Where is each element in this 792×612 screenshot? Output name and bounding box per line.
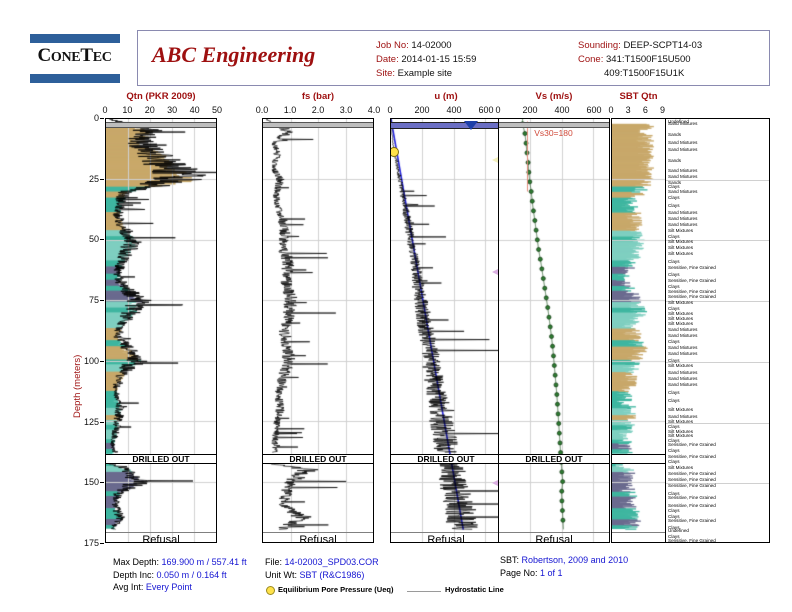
sbt-classification-label: Sand Mixtures (668, 327, 697, 332)
depth-tick (100, 543, 104, 544)
sbt-classification-label: Sensitive, Fine Grained (668, 495, 716, 500)
drilled-out-label: DRILLED OUT (106, 453, 216, 465)
sbt-classification-label: Sand Mixtures (668, 147, 697, 152)
ueq-legend-marker (266, 586, 275, 595)
tick-label: 0.0 (256, 105, 269, 115)
report-footer: Max Depth: 169.900 m / 557.41 ft Depth I… (0, 552, 792, 610)
sbt-classification-label: Clays (668, 508, 680, 513)
tick-label: 2.0 (312, 105, 325, 115)
drilled-out-label: DRILLED OUT (499, 453, 609, 465)
header-meta-right: Sounding: DEEP-SCPT14-03 Cone: 341:T1500… (578, 39, 702, 81)
tick-label: 0 (608, 105, 613, 115)
plot-canvas-qtn (106, 119, 216, 542)
sbt-classification-label: Sand Mixtures (668, 351, 697, 356)
ueq-legend-label: Equilibrium Pore Pressure (Ueq) (278, 585, 393, 594)
depth-tick-label: 25 (89, 174, 99, 184)
sbt-classification-label: Clays (668, 272, 680, 277)
refusal-line (263, 532, 373, 533)
sbt-classification-label: Sensitive, Fine Grained (668, 442, 716, 447)
sbt-classification-label: Sand Mixtures (668, 376, 697, 381)
sbt-classification-label: Silt Mixtures (668, 228, 693, 233)
footer-value: 1 of 1 (540, 568, 563, 578)
track-title-u: u (m) (390, 91, 502, 102)
sbt-classification-label: Silt Mixtures (668, 465, 693, 470)
refusal-label: Refusal (391, 534, 501, 543)
sbt-classification-label: Sensitive, Fine Grained (668, 518, 716, 523)
refusal-label: Refusal (106, 534, 216, 543)
drilled-out-label: DRILLED OUT (391, 453, 501, 465)
logo-letter-t: T (80, 45, 92, 66)
cpt-report-page: CONETEC ABC Engineering Job No: 14-02000… (0, 0, 792, 612)
logo-letters-ec: EC (93, 50, 112, 65)
plot-qtn[interactable]: DRILLED OUTRefusal (105, 118, 217, 543)
plot-vs[interactable]: DRILLED OUTRefusalVs30=180 (498, 118, 610, 543)
conetec-logo: CONETEC (22, 32, 127, 84)
sbt-classification-label: Sensitive, Fine Grained (668, 477, 716, 482)
sbt-classification-label: Sand Mixtures (668, 222, 697, 227)
meta-value: 409:T1500F15U1K (604, 68, 684, 79)
refusal-line (391, 532, 501, 533)
depth-tick (100, 118, 104, 119)
meta-row-jobno: Job No: 14-02000 (376, 39, 476, 53)
meta-key: Site: (376, 68, 395, 79)
sbt-classification-label: Silt Mixtures (668, 300, 693, 305)
sbt-classification-label: Sand Mixtures (668, 121, 697, 126)
plot-canvas-vs (499, 119, 609, 542)
meta-key: Cone: (578, 54, 603, 65)
footer-row-pageno: Page No: 1 of 1 (500, 567, 628, 580)
plot-sbt[interactable] (611, 118, 666, 543)
sbt-gridline (666, 180, 769, 181)
sbt-classification-label: Clays (668, 390, 680, 395)
sbt-classification-label: Undefined (668, 528, 689, 533)
footer-row-file: File: 14-02003_SPD03.COR (265, 556, 379, 569)
sbt-classification-label: Sand Mixtures (668, 333, 697, 338)
tick-label: 3 (626, 105, 631, 115)
footer-col-file: File: 14-02003_SPD03.COR Unit Wt: SBT (R… (265, 556, 379, 581)
depth-tick (100, 482, 104, 483)
plot-canvas-sbt (612, 119, 665, 542)
sbt-classification-label: Sand Mixtures (668, 382, 697, 387)
sbt-classification-label: Clays (668, 459, 680, 464)
footer-value: Every Point (146, 582, 192, 592)
meta-value: 14-02000 (411, 40, 451, 51)
depth-tick-label: 125 (84, 417, 99, 427)
sbt-classification-label: Sensitive, Fine Grained (668, 471, 716, 476)
track-title-qtn: Qtn (PKR 2009) (105, 91, 217, 102)
tick-label: 20 (145, 105, 155, 115)
depth-tick (100, 361, 104, 362)
sbt-classification-label: Sand Mixtures (668, 189, 697, 194)
sbt-classification-label: Clays (668, 184, 680, 189)
sbt-label-column: UndefinedSand MixturesSandsSand Mixtures… (666, 118, 770, 543)
sbt-classification-label: Sand Mixtures (668, 168, 697, 173)
sbt-classification-label: Sensitive, Fine Grained (668, 278, 716, 283)
footer-key: Page No: (500, 568, 538, 578)
logo-wordmark: CONETEC (22, 45, 127, 67)
plot-fs[interactable]: DRILLED OUTRefusal (262, 118, 374, 543)
tick-label: 10 (122, 105, 132, 115)
tick-label: 9 (660, 105, 665, 115)
sbt-classification-label: Silt Mixtures (668, 363, 693, 368)
tick-label: 50 (212, 105, 222, 115)
tick-label: 30 (167, 105, 177, 115)
refusal-line (106, 532, 216, 533)
footer-value: 14-02003_SPD03.COR (285, 557, 379, 567)
sbt-classification-label: Silt Mixtures (668, 407, 693, 412)
depth-tick-label: 150 (84, 477, 99, 487)
footer-key: SBT: (500, 555, 519, 565)
sbt-classification-label: Sand Mixtures (668, 345, 697, 350)
plot-canvas-fs (263, 119, 373, 542)
refusal-line (612, 532, 665, 533)
depth-tick-label: 75 (89, 295, 99, 305)
sbt-classification-label: Silt Mixtures (668, 321, 693, 326)
seabed-band (106, 122, 216, 128)
meta-key: Job No: (376, 40, 409, 51)
footer-value: 169.900 m / 557.41 ft (162, 557, 247, 567)
hydrostatic-legend-label: Hydrostatic Line (445, 585, 504, 594)
footer-row-maxdepth: Max Depth: 169.900 m / 557.41 ft (113, 556, 247, 569)
footer-row-unitwt: Unit Wt: SBT (R&C1986) (265, 569, 379, 582)
tick-label: 600 (478, 105, 493, 115)
seabed-band (263, 122, 373, 128)
meta-row-cone: Cone: 341:T1500F15U500 (578, 53, 702, 67)
footer-value: Robertson, 2009 and 2010 (522, 555, 629, 565)
tick-label: 0 (495, 105, 500, 115)
company-name: ABC Engineering (152, 42, 315, 68)
header-meta-left: Job No: 14-02000 Date: 2014-01-15 15:59 … (376, 39, 476, 81)
footer-value: 0.050 m / 0.164 ft (157, 570, 227, 580)
sbt-classification-label: Silt Mixtures (668, 245, 693, 250)
footer-row-sbt: SBT: Robertson, 2009 and 2010 (500, 554, 628, 567)
sbt-classification-label: Clays (668, 398, 680, 403)
tick-label: 200 (414, 105, 429, 115)
tick-label: 6 (643, 105, 648, 115)
tick-label: 4.0 (368, 105, 381, 115)
report-header: CONETEC ABC Engineering Job No: 14-02000… (22, 30, 770, 88)
footer-value: SBT (R&C1986) (300, 570, 365, 580)
meta-key: Sounding: (578, 40, 621, 51)
footer-key: File: (265, 557, 282, 567)
meta-value: Example site (398, 68, 452, 79)
sbt-classification-label: Sand Mixtures (668, 216, 697, 221)
footer-key: Unit Wt: (265, 570, 297, 580)
vs30-annotation: Vs30=180 (534, 128, 573, 138)
refusal-label: Refusal (499, 534, 609, 543)
footer-key: Max Depth: (113, 557, 159, 567)
meta-row-cone2: 409:T1500F15U1K (578, 67, 702, 81)
footer-col-depths: Max Depth: 169.900 m / 557.41 ft Depth I… (113, 556, 247, 594)
tick-label: 600 (586, 105, 601, 115)
sbt-classification-label: Clays (668, 203, 680, 208)
logo-letter-c: C (37, 45, 50, 66)
depth-tick-label: 0 (94, 113, 99, 123)
drilled-out-band (612, 454, 665, 464)
sbt-classification-label: Clays (668, 195, 680, 200)
track-title-fs: fs (bar) (262, 91, 374, 102)
depth-tick (100, 179, 104, 180)
sbt-classification-label: Sensitive, Fine Grained (668, 265, 716, 270)
drilled-out-label: DRILLED OUT (263, 453, 373, 465)
meta-key: Date: (376, 54, 399, 65)
tick-label: 0 (387, 105, 392, 115)
tick-label: 400 (446, 105, 461, 115)
tick-label: 3.0 (340, 105, 353, 115)
sbt-classification-label: Silt Mixtures (668, 239, 693, 244)
tick-label: 40 (190, 105, 200, 115)
sbt-classification-label: Sand Mixtures (668, 210, 697, 215)
sbt-classification-label: Clays (668, 448, 680, 453)
tick-label: 0 (102, 105, 107, 115)
sbt-classification-label: Clays (668, 259, 680, 264)
meta-row-sounding: Sounding: DEEP-SCPT14-03 (578, 39, 702, 53)
depth-tick-label: 175 (84, 538, 99, 548)
footer-key: Avg Int: (113, 582, 143, 592)
header-info-box: ABC Engineering Job No: 14-02000 Date: 2… (137, 30, 770, 86)
water-table-band (391, 122, 501, 129)
sbt-classification-label: Sensitive, Fine Grained (668, 294, 716, 299)
footer-col-sbt: SBT: Robertson, 2009 and 2010 Page No: 1… (500, 554, 628, 579)
meta-row-site: Site: Example site (376, 67, 476, 81)
sbt-classification-label: Sands (668, 132, 681, 137)
sbt-classification-label: Sand Mixtures (668, 140, 697, 145)
logo-letters-one: ONE (51, 50, 80, 65)
logo-bar-bottom (30, 74, 120, 83)
depth-tick (100, 239, 104, 240)
track-title-sbt: SBT Qtn (611, 91, 666, 102)
track-title-vs: Vs (m/s) (498, 91, 610, 102)
tick-label: 200 (522, 105, 537, 115)
meta-value: 341:T1500F15U500 (606, 54, 691, 65)
meta-value: DEEP-SCPT14-03 (623, 40, 702, 51)
depth-tick-label: 100 (84, 356, 99, 366)
footer-key: Depth Inc: (113, 570, 154, 580)
sbt-classification-label: Sensitive, Fine Grained (668, 538, 716, 543)
water-table-icon (464, 121, 478, 130)
sbt-classification-label: Sensitive, Fine Grained (668, 483, 716, 488)
plot-u[interactable]: DRILLED OUTRefusal (390, 118, 502, 543)
refusal-line (499, 532, 609, 533)
footer-row-depthinc: Depth Inc: 0.050 m / 0.164 ft (113, 569, 247, 582)
refusal-label: Refusal (263, 534, 373, 543)
sbt-classification-label: Sands (668, 158, 681, 163)
sbt-classification-label: Clays (668, 339, 680, 344)
depth-tick (100, 300, 104, 301)
meta-value: 2014-01-15 15:59 (401, 54, 476, 65)
hydrostatic-legend-line (407, 591, 441, 592)
logo-bar-top (30, 34, 120, 43)
sbt-classification-label: Sand Mixtures (668, 370, 697, 375)
sbt-classification-label: Sand Mixtures (668, 174, 697, 179)
sbt-classification-label: Silt Mixtures (668, 251, 693, 256)
depth-axis-title: Depth (meters) (72, 355, 83, 418)
depth-tick (100, 422, 104, 423)
depth-tick-label: 50 (89, 234, 99, 244)
tick-label: 1.0 (284, 105, 297, 115)
ueq-marker (390, 147, 399, 157)
plot-canvas-u (391, 119, 501, 542)
depth-axis: Depth (meters) 0255075100125150175 (78, 118, 104, 543)
meta-row-date: Date: 2014-01-15 15:59 (376, 53, 476, 67)
footer-row-avgint: Avg Int: Every Point (113, 581, 247, 594)
tick-label: 400 (554, 105, 569, 115)
